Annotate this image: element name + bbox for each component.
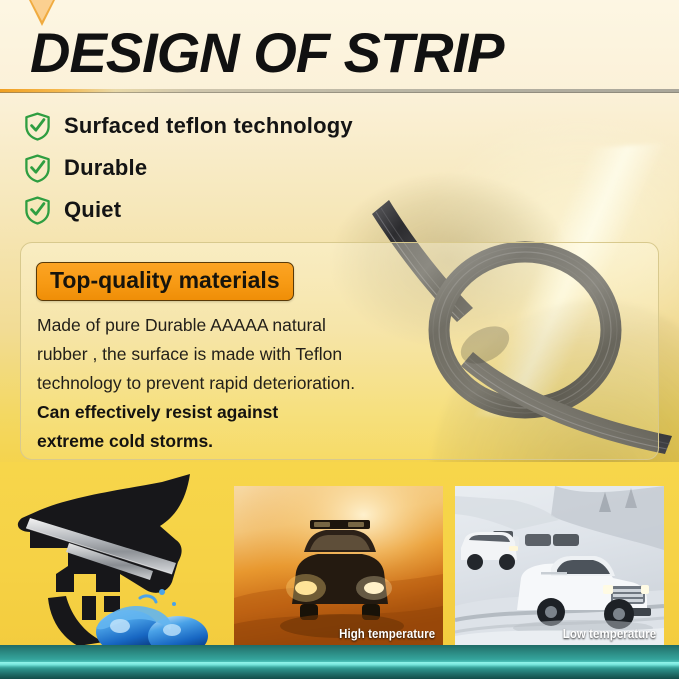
feature-label: Surfaced teflon technology <box>64 113 353 139</box>
feature-item: Quiet <box>24 189 353 231</box>
shield-check-icon <box>24 154 51 183</box>
photo-caption: Low temperature <box>563 626 657 641</box>
info-card-line: Made of pure Durable AAAAA natural <box>37 311 437 340</box>
feature-item: Surfaced teflon technology <box>24 105 353 147</box>
info-card-line: extreme cold storms. <box>37 427 437 456</box>
info-card-line: rubber , the surface is made with Teflon <box>37 340 437 369</box>
info-card: Top-quality materials Made of pure Durab… <box>20 242 659 460</box>
footer-accent-strip <box>0 645 679 679</box>
badge-top-quality: Top-quality materials <box>36 262 294 301</box>
feature-label: Quiet <box>64 197 121 223</box>
feature-label: Durable <box>64 155 147 181</box>
header-divider <box>0 89 679 93</box>
info-card-line: technology to prevent rapid deterioratio… <box>37 369 437 398</box>
product-feature-page: DESIGN OF STRIP Surfaced teflon technolo… <box>0 0 679 679</box>
low-temperature-photo: Low temperature <box>455 486 664 647</box>
shield-check-icon <box>24 112 51 141</box>
info-card-line: Can effectively resist against <box>37 398 437 427</box>
high-temperature-photo: High temperature <box>234 486 443 647</box>
photo-caption: High temperature <box>339 626 435 641</box>
page-title: DESIGN OF STRIP <box>30 24 504 82</box>
info-card-body: Made of pure Durable AAAAA natural rubbe… <box>37 311 437 456</box>
feature-list: Surfaced teflon technology Durable Quiet <box>24 105 353 231</box>
wiper-blade-cross-section-diagram <box>0 470 228 647</box>
feature-item: Durable <box>24 147 353 189</box>
shield-check-icon <box>24 196 51 225</box>
